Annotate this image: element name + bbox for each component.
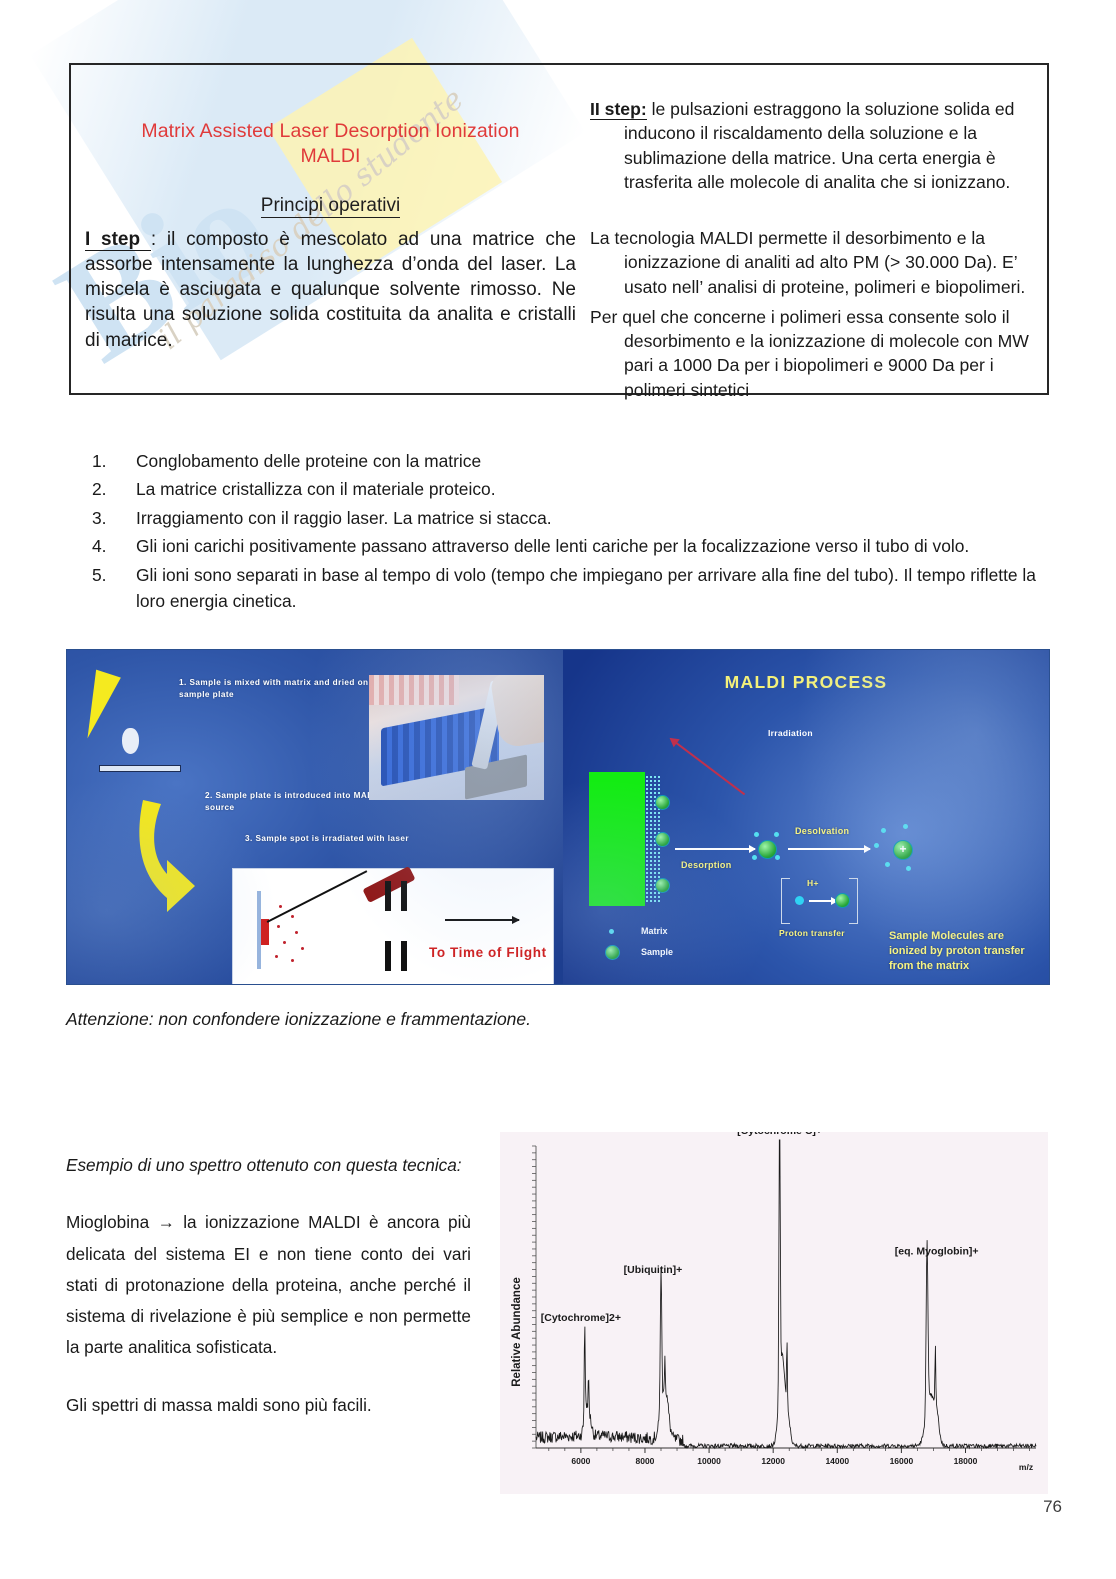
ion-lens-bar xyxy=(401,881,407,911)
ion-particle xyxy=(301,947,304,950)
slide-polimeri-paragraph: Per quel che concerne i polimeri essa co… xyxy=(590,305,1037,402)
lab-photo-inset xyxy=(369,675,544,800)
list-item-text: Gli ioni carichi positivamente passano a… xyxy=(136,533,1067,559)
matrix-dot xyxy=(874,843,879,848)
slide-title-line1: Matrix Assisted Laser Desorption Ionizat… xyxy=(141,120,519,142)
matrix-dot xyxy=(752,855,757,860)
legend-sample-dot xyxy=(605,945,620,960)
tof-label: To Time of Flight xyxy=(429,945,547,960)
maldi-process-title: MALDI PROCESS xyxy=(563,672,1049,693)
ion-lens-bar xyxy=(385,941,391,971)
slide-box: Matrix Assisted Laser Desorption Ionizat… xyxy=(69,63,1049,395)
svg-text:10000: 10000 xyxy=(697,1456,721,1466)
figure-step3-text: 3. Sample spot is irradiated with laser xyxy=(245,833,440,845)
lower-paragraph-spettri: Gli spettri di massa maldi sono più faci… xyxy=(66,1390,471,1421)
list-item: 3. Irraggiamento con il raggio laser. La… xyxy=(92,505,1067,531)
matrix-dot xyxy=(903,824,908,829)
slide-right-spacer xyxy=(590,200,1037,226)
list-item-text: Conglobamento delle proteine con la matr… xyxy=(136,448,1067,474)
slide-step2-label: II step: xyxy=(590,99,647,120)
numbered-list: 1. Conglobamento delle proteine con la m… xyxy=(92,448,1067,617)
sample-spot-icon xyxy=(261,919,269,945)
slide-step2-paragraph: II step: le pulsazioni estraggono la sol… xyxy=(590,97,1037,194)
list-item: 5. Gli ioni sono separati in base al tem… xyxy=(92,562,1067,615)
desolvation-label: Desolvation xyxy=(795,826,849,836)
legend-matrix-dot xyxy=(609,929,614,934)
bracket-right xyxy=(849,878,858,924)
maldi-figure: 1. Sample is mixed with matrix and dried… xyxy=(66,649,1050,985)
ion-particle xyxy=(279,905,282,908)
tof-direction-arrow xyxy=(445,919,519,921)
slide-tecnologia-paragraph: La tecnologia MALDI permette il desorbim… xyxy=(590,226,1037,299)
matrix-dot xyxy=(775,855,780,860)
slide-subtitle: Principi operativi xyxy=(85,195,576,217)
ion-particle xyxy=(275,955,278,958)
slide-title-line2: MALDI xyxy=(300,145,360,167)
lower-paragraph-mioglobina: Mioglobina → la ionizzazione MALDI è anc… xyxy=(66,1207,471,1363)
proton-transfer-arrow xyxy=(809,900,837,902)
bracket-left xyxy=(781,878,790,924)
sample-molecule-dot xyxy=(655,832,670,847)
slide-subtitle-text: Principi operativi xyxy=(261,195,400,218)
legend-matrix-label: Matrix xyxy=(641,926,668,936)
ion-particle xyxy=(291,959,294,962)
sample-molecule-dot xyxy=(835,893,850,908)
list-item: 4. Gli ioni carichi positivamente passan… xyxy=(92,533,1067,559)
slide-right-column: II step: le pulsazioni estraggono la sol… xyxy=(590,71,1037,387)
list-item-text: Irraggiamento con il raggio laser. La ma… xyxy=(136,505,1067,531)
ion-lens-bar xyxy=(401,941,407,971)
pipette-cone-icon xyxy=(75,670,121,743)
page-number: 76 xyxy=(1043,1497,1062,1517)
slide-left-column: Matrix Assisted Laser Desorption Ionizat… xyxy=(85,71,590,387)
proton-dot xyxy=(795,896,804,905)
matrix-dot xyxy=(906,866,911,871)
mass-spectrum-svg: 600080001000012000140001600018000 [Cytoc… xyxy=(500,1132,1048,1494)
peak-label: [Ubiquitin]+ xyxy=(624,1264,683,1276)
laser-desorption-diagram: To Time of Flight xyxy=(232,868,554,984)
droplet-icon xyxy=(122,728,139,754)
sample-molecule-dot xyxy=(655,878,670,893)
chart-ylabel: Relative Abundance xyxy=(511,1277,523,1387)
sample-plate-block xyxy=(589,772,645,906)
photo-background-strip xyxy=(369,675,459,705)
irradiation-arrow xyxy=(670,738,745,795)
legend-sample-label: Sample xyxy=(641,947,673,957)
svg-text:12000: 12000 xyxy=(761,1456,785,1466)
mass-spectrum-figure: 600080001000012000140001600018000 [Cytoc… xyxy=(500,1132,1048,1494)
yellow-curved-arrow-icon xyxy=(133,794,233,924)
figure-step1-text: 1. Sample is mixed with matrix and dried… xyxy=(179,677,379,701)
chart-xlabel: m/z xyxy=(1019,1462,1033,1472)
ion-particle xyxy=(291,915,294,918)
peak-label: [Cytochrome]2+ xyxy=(541,1312,621,1324)
list-item-marker: 1. xyxy=(92,448,136,474)
matrix-dot xyxy=(881,828,886,833)
slide-columns: Matrix Assisted Laser Desorption Ionizat… xyxy=(71,65,1047,393)
list-item-marker: 3. xyxy=(92,505,136,531)
list-item-text: Gli ioni sono separati in base al tempo … xyxy=(136,562,1067,615)
desolvation-arrow xyxy=(788,848,870,850)
svg-text:6000: 6000 xyxy=(571,1456,590,1466)
maldi-process-panel: MALDI PROCESS Irradiation Desorption Des… xyxy=(563,650,1049,984)
irradiation-label: Irradiation xyxy=(768,728,813,738)
list-item-marker: 4. xyxy=(92,533,136,559)
maldi-process-note: Sample Molecules are ionized by proton t… xyxy=(889,929,1041,974)
list-item-text: La matrice cristallizza con il materiale… xyxy=(136,476,1067,502)
maldi-steps-panel: 1. Sample is mixed with matrix and dried… xyxy=(67,650,563,984)
desorption-arrow xyxy=(675,848,755,850)
svg-text:8000: 8000 xyxy=(636,1456,655,1466)
ion-particle xyxy=(295,931,298,934)
matrix-dot xyxy=(774,832,779,837)
matrix-dot xyxy=(754,832,759,837)
slide-step2-text: le pulsazioni estraggono la soluzione so… xyxy=(624,99,1014,192)
slide-title: Matrix Assisted Laser Desorption Ionizat… xyxy=(85,119,576,169)
proton-transfer-label: Proton transfer xyxy=(779,928,845,938)
list-item: 2. La matrice cristallizza con il materi… xyxy=(92,476,1067,502)
list-item: 1. Conglobamento delle proteine con la m… xyxy=(92,448,1067,474)
matrix-dot xyxy=(885,862,890,867)
desorption-label: Desorption xyxy=(681,860,732,870)
svg-text:18000: 18000 xyxy=(954,1456,978,1466)
sample-molecule-dot xyxy=(655,795,670,810)
peak-label: [Cytochrome C]+ xyxy=(737,1132,822,1137)
ion-lens-bar xyxy=(385,881,391,911)
ion-particle xyxy=(283,941,286,944)
list-item-marker: 2. xyxy=(92,476,136,502)
ionized-molecule: + xyxy=(893,840,913,860)
laser-beam-line xyxy=(267,870,368,922)
svg-text:14000: 14000 xyxy=(825,1456,849,1466)
slide-step1-text: : il composto è mescolato ad una matrice… xyxy=(85,229,576,351)
ion-particle xyxy=(277,925,280,928)
peak-label: [eq. Myoglobin]+ xyxy=(895,1246,979,1258)
slide-step1-paragraph: I step : il composto è mescolato ad una … xyxy=(85,227,576,353)
attention-note: Attenzione: non confondere ionizzazione … xyxy=(66,1009,531,1030)
lower-text-column: Esempio di uno spettro ottenuto con ques… xyxy=(66,1150,471,1421)
list-item-marker: 5. xyxy=(92,562,136,615)
slide-step1-label: I step xyxy=(85,229,151,251)
lower-paragraph-example: Esempio di uno spettro ottenuto con ques… xyxy=(66,1150,471,1181)
sample-plate-icon xyxy=(99,765,181,772)
h-plus-label: H+ xyxy=(807,878,819,888)
svg-text:16000: 16000 xyxy=(890,1456,914,1466)
